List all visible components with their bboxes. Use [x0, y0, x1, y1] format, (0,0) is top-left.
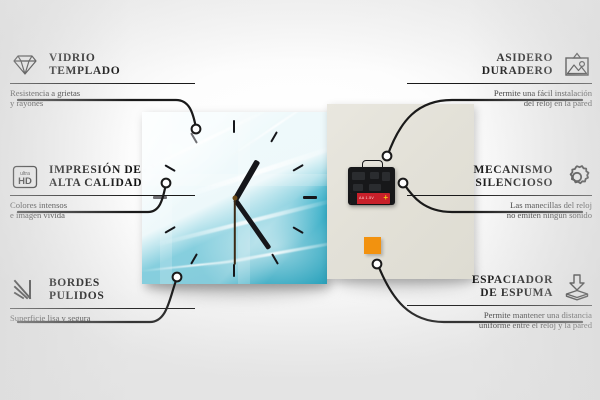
feature-divider [10, 83, 195, 84]
feature-desc-line1: Permite una fácil instalación [407, 88, 592, 98]
clock-tick [292, 226, 304, 234]
feature-mecanismo-silencioso: MECANISMO SILENCIOSO Las manecillas del … [407, 162, 592, 221]
feature-title-line2: PULIDOS [49, 290, 104, 304]
feature-title-line2: DURADERO [482, 65, 553, 79]
svg-text:HD: HD [18, 176, 32, 187]
feature-divider [407, 305, 592, 306]
feature-espaciador-de-espuma: ESPACIADOR DE ESPUMA Permite mantener un… [407, 272, 592, 331]
feature-title: VIDRIO TEMPLADO [49, 52, 120, 79]
feature-desc-line2: no emiten ningún sonido [407, 210, 592, 220]
clock-battery: AA 1.5V + [350, 193, 390, 204]
feature-title: BORDES PULIDOS [49, 277, 104, 304]
feature-title: MECANISMO SILENCIOSO [473, 164, 553, 191]
feature-description: Las manecillas del reloj no emiten ningú… [407, 200, 592, 221]
feature-title-line1: VIDRIO [49, 52, 95, 64]
feature-title-line2: ALTA CALIDAD [49, 177, 142, 191]
feature-description: Superficie lisa y segura [10, 313, 195, 323]
clock-tick [303, 196, 317, 199]
gear-icon [562, 162, 592, 192]
clock-center-cap [232, 196, 237, 201]
feature-desc-line2: y rayones [10, 98, 195, 108]
feature-divider [10, 308, 195, 309]
picture-hanger-icon [562, 50, 592, 80]
feature-description: Resistencia a grietas y rayones [10, 88, 195, 109]
feature-desc-line1: Superficie lisa y segura [10, 313, 195, 323]
feature-divider [407, 83, 592, 84]
feature-title: ESPACIADOR DE ESPUMA [472, 274, 553, 301]
feature-desc-line2: e imagen vívida [10, 210, 195, 220]
feature-title: ASIDERO DURADERO [482, 52, 553, 79]
feature-bordes-pulidos: BORDES PULIDOS Superficie lisa y segura [10, 275, 195, 323]
feature-title-line1: ESPACIADOR [472, 274, 553, 286]
clock-tick [292, 164, 304, 172]
feature-desc-line1: Colores intensos [10, 200, 195, 210]
feature-title-line1: IMPRESIÓN DE [49, 164, 142, 176]
feature-title-line2: SILENCIOSO [473, 177, 553, 191]
feature-desc-line2: del reloj en la pared [407, 98, 592, 108]
diamond-icon [10, 50, 40, 80]
feature-title-line2: TEMPLADO [49, 65, 120, 79]
feature-desc-line1: Permite mantener una distancia [407, 310, 592, 320]
feature-title-line1: BORDES [49, 277, 100, 289]
clock-tick [233, 264, 235, 277]
feature-title: IMPRESIÓN DE ALTA CALIDAD [49, 164, 142, 191]
foam-spacer-icon [562, 272, 592, 302]
feature-asidero-duradero: ASIDERO DURADERO Permite una fácil insta… [407, 50, 592, 109]
feature-description: Permite una fácil instalación del reloj … [407, 88, 592, 109]
feature-desc-line1: Las manecillas del reloj [407, 200, 592, 210]
ultra-hd-icon: ultra HD [10, 162, 40, 192]
feature-impresion-alta-calidad: ultra HD IMPRESIÓN DE ALTA CALIDAD Color… [10, 162, 195, 221]
product-infographic: AA 1.5V + [0, 0, 600, 400]
clock-tick [270, 131, 278, 143]
feature-desc-line1: Resistencia a grietas [10, 88, 195, 98]
foam-spacer-piece [364, 237, 381, 254]
feature-title-line1: ASIDERO [496, 52, 553, 64]
clock-second-hand [234, 198, 236, 264]
polished-edges-icon [10, 275, 40, 305]
feature-vidrio-templado: VIDRIO TEMPLADO Resistencia a grietas y … [10, 50, 195, 109]
feature-description: Colores intensos e imagen vívida [10, 200, 195, 221]
feature-desc-line2: uniforme entre el reloj y la pared [407, 320, 592, 330]
feature-divider [10, 195, 195, 196]
feature-description: Permite mantener una distancia uniforme … [407, 310, 592, 331]
feature-divider [407, 195, 592, 196]
clock-tick [190, 132, 198, 144]
feature-title-line2: DE ESPUMA [472, 287, 553, 301]
feature-title-line1: MECANISMO [473, 164, 553, 176]
